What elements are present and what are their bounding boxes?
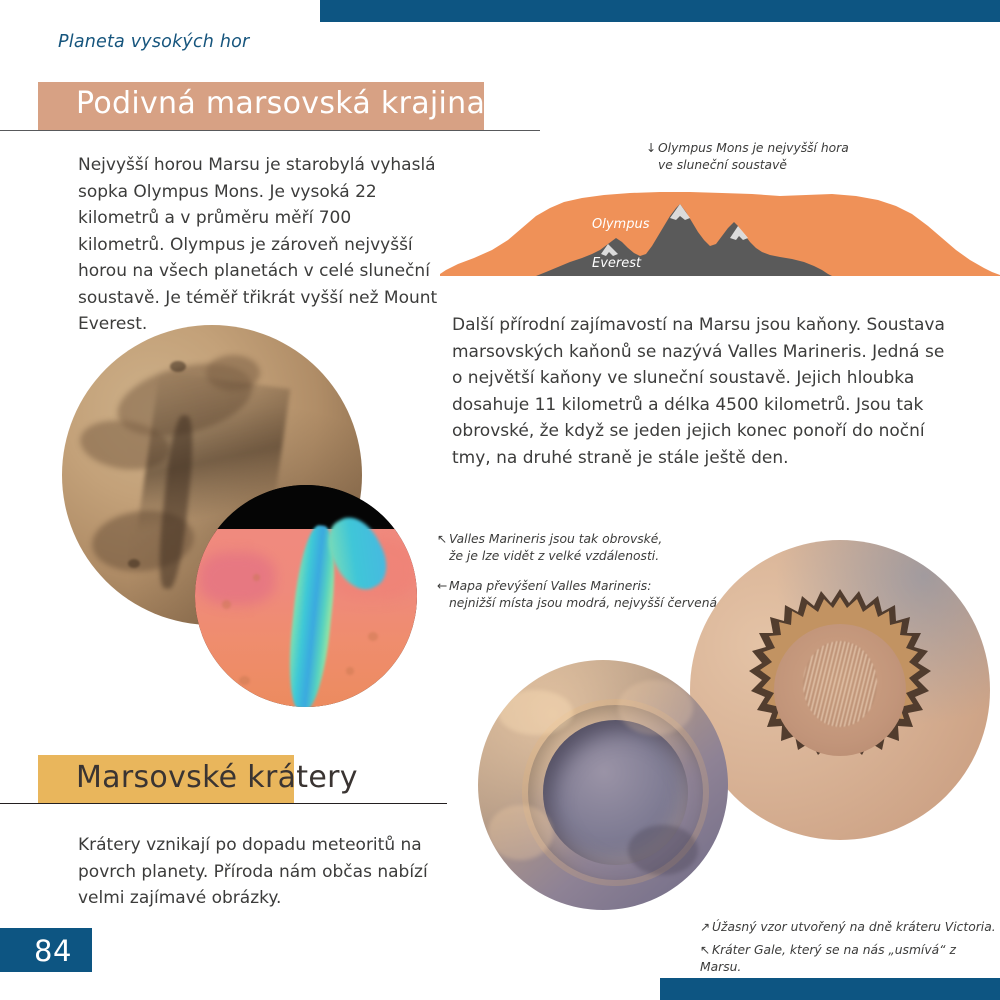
caption-gale-crater: ↖Kráter Gale, který se na nás „usmívá“ z…	[700, 942, 1000, 975]
arrow-up-left-icon: ↖	[700, 942, 712, 959]
map-crater	[346, 667, 354, 675]
arrow-down-icon: ↓	[646, 140, 658, 157]
caption-line: ↖Kráter Gale, který se na nás „usmívá“ z…	[700, 942, 1000, 975]
paragraph-text: Další přírodní zajímavostí na Marsu jsou…	[452, 312, 952, 471]
caption-text: Kráter Gale, který se na nás „usmívá“ z …	[700, 943, 956, 974]
gale-crater-figure	[478, 660, 728, 910]
body-paragraph-bottom: Krátery vznikají po dopadu meteoritů na …	[78, 832, 468, 912]
body-paragraph-left: Nejvyšší horou Marsu je starobylá vyhasl…	[78, 152, 438, 338]
victoria-crater-figure	[690, 540, 990, 840]
map-sky-band	[195, 485, 417, 534]
caption-victoria-crater: ↗Úžasný vzor utvořený na dně kráteru Vic…	[700, 919, 1000, 936]
caption-line: ↗Úžasný vzor utvořený na dně kráteru Vic…	[700, 919, 1000, 936]
surface-texture	[618, 680, 693, 735]
surface-texture	[498, 690, 573, 735]
caption-text: Úžasný vzor utvořený na dně kráteru Vict…	[712, 920, 996, 934]
arrow-up-right-icon: ↗	[700, 919, 712, 936]
caption-valles-marineris-map: ←Mapa převýšení Valles Marineris: nejniž…	[437, 578, 757, 611]
caption-olympus-mons: ↓Olympus Mons je nejvyšší hora ve sluneč…	[646, 140, 976, 173]
bottom-accent-bar	[660, 978, 1000, 1000]
arrow-left-icon: ←	[437, 578, 449, 595]
section-heading-1: Podivná marsovská krajina	[76, 86, 485, 121]
caption-line: ↓Olympus Mons je nejvyšší hora	[646, 140, 976, 157]
running-head: Planeta vysokých hor	[58, 32, 249, 52]
caption-text: Olympus Mons je nejvyšší hora	[658, 141, 849, 155]
section-rule-1	[0, 130, 540, 131]
caption-line: ←Mapa převýšení Valles Marineris:	[437, 578, 757, 595]
body-paragraph-right: Další přírodní zajímavostí na Marsu jsou…	[452, 312, 952, 471]
map-crater	[368, 632, 378, 641]
crater-mark	[170, 361, 186, 372]
caption-valles-marineris-photo: ↖Valles Marineris jsou tak obrovské, že …	[437, 531, 737, 564]
surface-texture	[488, 805, 553, 860]
map-crater	[253, 574, 260, 581]
paragraph-text: Nejvyšší horou Marsu je starobylá vyhasl…	[78, 152, 438, 338]
caption-line: že je lze vidět z velké vzdálenosti.	[437, 548, 737, 565]
olympus-everest-profile-diagram: Olympus Everest	[440, 182, 1000, 280]
surface-texture	[628, 825, 698, 875]
caption-text: Valles Marineris jsou tak obrovské,	[449, 532, 662, 546]
page-number: 84	[34, 934, 72, 968]
caption-line: nejnižší místa jsou modrá, nejvyšší červ…	[437, 595, 757, 612]
caption-text: Mapa převýšení Valles Marineris:	[449, 579, 651, 593]
top-accent-bar	[320, 0, 1000, 22]
diagram-label-olympus: Olympus	[592, 217, 649, 232]
crater-dune-pattern	[803, 641, 877, 727]
valles-marineris-topographic-map-figure	[195, 485, 417, 707]
crater-mark	[128, 559, 140, 568]
section-rule-2	[0, 803, 447, 804]
diagram-label-everest: Everest	[592, 256, 641, 271]
document-page: Planeta vysokých hor Podivná marsovská k…	[0, 0, 1000, 1000]
paragraph-text: Krátery vznikají po dopadu meteoritů na …	[78, 832, 468, 912]
caption-line: ve sluneční soustavě	[646, 157, 976, 174]
caption-line: ↖Valles Marineris jsou tak obrovské,	[437, 531, 737, 548]
section-heading-2: Marsovské krátery	[76, 760, 358, 795]
map-high-elevation-patch	[199, 552, 274, 605]
arrow-up-left-icon: ↖	[437, 531, 449, 548]
